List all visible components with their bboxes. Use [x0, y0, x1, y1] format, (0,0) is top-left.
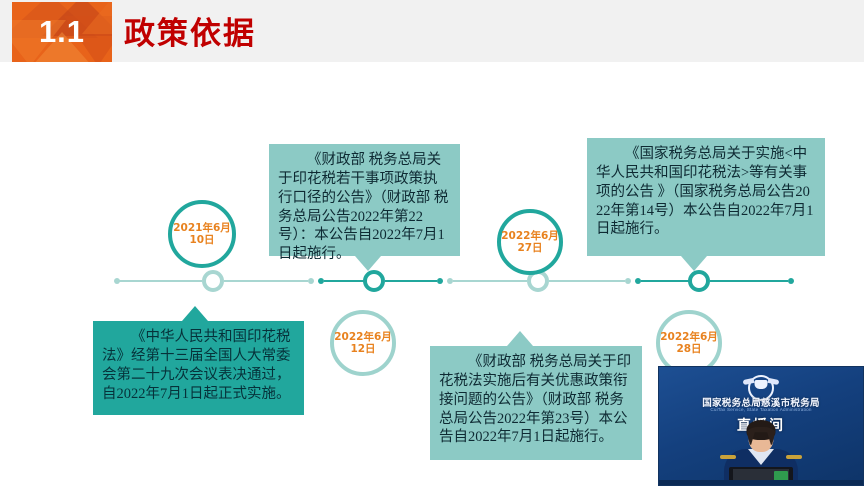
presenter-figure [715, 423, 807, 485]
presenter-epaulette-right [786, 455, 802, 459]
timeline-node-1[interactable] [202, 270, 224, 292]
timeline-gap-dot-1a [308, 278, 314, 284]
tax-bureau-emblem-icon [742, 371, 780, 397]
date-marker-2-line2: 12日 [350, 343, 375, 355]
date-marker-4-line1: 2022年6月 [660, 331, 718, 343]
date-marker-4-text: 2022年6月 28日 [660, 331, 718, 356]
date-marker-3-text: 2022年6月 27日 [501, 230, 559, 255]
date-marker-2[interactable]: 2022年6月 12日 [330, 310, 396, 376]
timeline-gap-dot-3a [625, 278, 631, 284]
slide-header: 1.1 政策依据 [0, 0, 864, 65]
date-marker-3[interactable]: 2022年6月 27日 [497, 209, 563, 275]
presenter-epaulette-left [720, 455, 736, 459]
callout-policy-22: 《财政部 税务总局关于印花税若干事项政策执行口径的公告》（财政部 税务总局公告2… [269, 144, 460, 256]
date-marker-2-line1: 2022年6月 [334, 331, 392, 343]
slide-root: 1.1 政策依据 2021年6月 10日 2022 [0, 0, 864, 486]
timeline-gap-dot-2a [437, 278, 443, 284]
timeline-node-4[interactable] [688, 270, 710, 292]
video-bureau-subtitle: CuiTax Service, State Taxation Administr… [659, 407, 863, 412]
timeline-node-2[interactable] [363, 270, 385, 292]
callout-policy-14-tail [681, 256, 707, 271]
timeline-axis [0, 278, 864, 284]
page-title: 政策依据 [124, 8, 256, 53]
timeline-segment-1 [118, 280, 202, 282]
timeline-segment-7 [641, 280, 689, 282]
timeline-segment-6 [549, 280, 625, 282]
live-stream-thumbnail[interactable]: 国家税务总局慈溪市税务局 CuiTax Service, State Taxat… [658, 366, 864, 486]
timeline-segment-4 [385, 280, 437, 282]
emblem-core [755, 380, 768, 389]
date-marker-3-line1: 2022年6月 [501, 230, 559, 242]
header-divider [0, 62, 864, 65]
timeline-segment-5 [453, 280, 527, 282]
date-marker-1-text: 2021年6月 10日 [173, 222, 231, 247]
timeline-segment-8 [710, 280, 788, 282]
date-marker-3-line2: 27日 [517, 242, 542, 254]
date-marker-1-line1: 2021年6月 [173, 222, 231, 234]
callout-policy-23: 《财政部 税务总局关于印花税法实施后有关优惠政策衔接问题的公告》（财政部 税务总… [430, 346, 642, 460]
callout-policy-14: 《国家税务总局关于实施<中华人民共和国印花税法>等有关事项的公告 》（国家税务总… [587, 138, 825, 256]
date-marker-1-line2: 10日 [189, 234, 214, 246]
callout-policy-22-tail [355, 256, 381, 271]
timeline-segment-2 [224, 280, 308, 282]
callout-policy-23-tail [507, 331, 533, 346]
callout-stamp-law-tail [182, 306, 208, 321]
timeline-endpoint-dot-right [788, 278, 794, 284]
video-bottom-strip [659, 480, 863, 485]
callout-stamp-law: 《中华人民共和国印花税法》经第十三届全国人大常委会第二十九次会议表决通过，自20… [93, 321, 304, 415]
date-marker-1[interactable]: 2021年6月 10日 [168, 200, 236, 268]
date-marker-2-text: 2022年6月 12日 [334, 331, 392, 356]
date-marker-4-line2: 28日 [676, 343, 701, 355]
section-number-text: 1.1 [12, 2, 112, 62]
section-number-badge: 1.1 [12, 2, 112, 62]
